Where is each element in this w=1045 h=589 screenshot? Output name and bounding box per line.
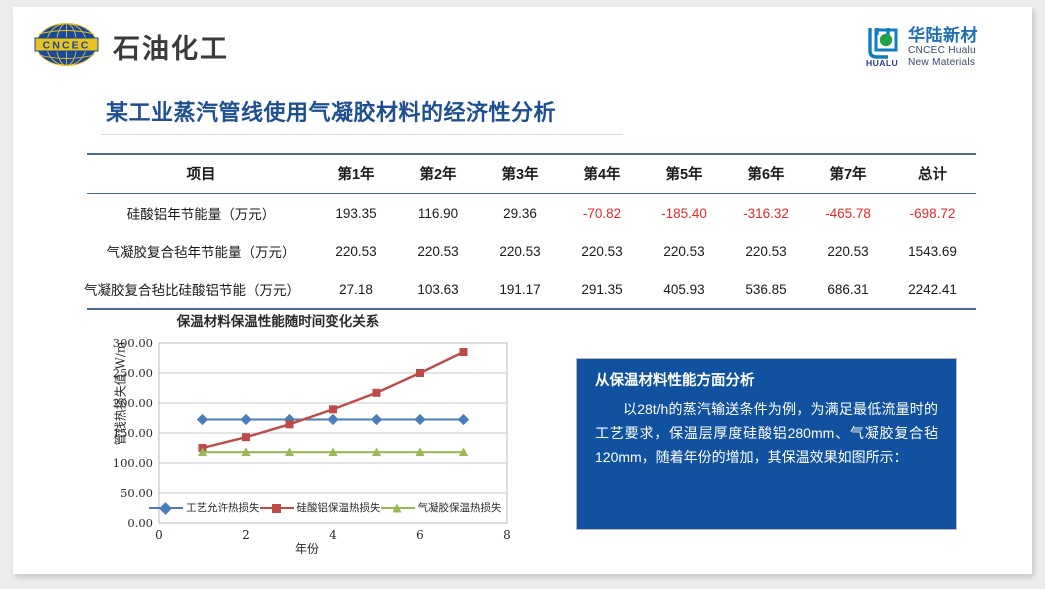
table-row: 气凝胶复合毡年节能量（万元） 220.53 220.53 220.53 220.… [87, 232, 976, 270]
table-header-cell: 第7年 [807, 154, 889, 194]
chart-x-axis-label: 年份 [97, 540, 517, 557]
table-header-cell: 第2年 [397, 154, 479, 194]
table-cell: 116.90 [397, 194, 479, 233]
title-divider [101, 134, 623, 135]
insulation-performance-chart: 保温材料保温性能随时间变化关系 管线热损失值 W/m 300.00 [73, 307, 543, 562]
cncec-wordmark: 石油化工 [113, 27, 229, 66]
svg-text:HUALU: HUALU [866, 58, 898, 68]
table-cell: -698.72 [889, 194, 976, 233]
table-header-row: 项目 第1年 第2年 第3年 第4年 第5年 第6年 第7年 总计 [87, 154, 976, 194]
table-row-label: 气凝胶复合毡比硅酸铝节能（万元） [87, 270, 315, 309]
table-cell: 103.63 [397, 270, 479, 309]
table-cell: -316.32 [725, 194, 807, 233]
hualu-logo-icon: HUALU 华陆新材 CNCEC Hualu New Materials [860, 21, 1010, 69]
slide-canvas: CNCEC 石油化工 HUALU 华陆新材 CNCEC Hualu New Ma… [13, 7, 1032, 574]
svg-text:New Materials: New Materials [908, 57, 975, 68]
table-row: 硅酸铝年节能量（万元） 193.35 116.90 29.36 -70.82 -… [87, 194, 976, 233]
table-cell: 220.53 [561, 232, 643, 270]
table-cell: 220.53 [479, 232, 561, 270]
table-cell: 220.53 [725, 232, 807, 270]
table-cell: -465.78 [807, 194, 889, 233]
economic-analysis-table: 项目 第1年 第2年 第3年 第4年 第5年 第6年 第7年 总计 硅酸铝年节能… [87, 153, 976, 310]
table-cell: 220.53 [315, 232, 397, 270]
table-cell: 191.17 [479, 270, 561, 309]
svg-text:0: 0 [155, 528, 163, 540]
table-header-cell: 总计 [889, 154, 976, 194]
table-cell: 536.85 [725, 270, 807, 309]
callout-body: 以28t/h的蒸汽输送条件为例，为满足最低流量时的工艺要求，保温层厚度硅酸铝28… [595, 397, 938, 469]
table-header-cell: 第3年 [479, 154, 561, 194]
svg-text:100.00: 100.00 [113, 456, 153, 470]
svg-text:0.00: 0.00 [127, 516, 153, 530]
table-header-cell: 第6年 [725, 154, 807, 194]
table-cell: 220.53 [397, 232, 479, 270]
table-row-label-text: 气凝胶复合毡比硅酸铝节能（万元） [84, 279, 300, 299]
table-cell: 29.36 [479, 194, 561, 233]
page-title: 某工业蒸汽管线使用气凝胶材料的经济性分析 [106, 95, 556, 127]
svg-text:8: 8 [503, 528, 511, 540]
table-cell: 220.53 [643, 232, 725, 270]
callout-heading: 从保温材料性能方面分析 [595, 374, 938, 390]
table-cell: -185.40 [643, 194, 725, 233]
table-cell: -70.82 [561, 194, 643, 233]
table-cell: 1543.69 [889, 232, 976, 270]
svg-text:50.00: 50.00 [120, 486, 153, 500]
table-cell: 2242.41 [889, 270, 976, 309]
table-row-label: 气凝胶复合毡年节能量（万元） [87, 232, 315, 270]
svg-text:300.00: 300.00 [113, 336, 153, 350]
svg-text:6: 6 [416, 528, 424, 540]
svg-text:CNCEC Hualu: CNCEC Hualu [908, 45, 976, 56]
slide-page: CNCEC 石油化工 HUALU 华陆新材 CNCEC Hualu New Ma… [0, 0, 1045, 589]
svg-text:2: 2 [242, 528, 250, 540]
table-row-label: 硅酸铝年节能量（万元） [87, 194, 315, 233]
svg-text:4: 4 [329, 528, 337, 540]
table-cell: 220.53 [807, 232, 889, 270]
table-header-cell: 第4年 [561, 154, 643, 194]
table-cell: 27.18 [315, 270, 397, 309]
svg-text:华陆新材: 华陆新材 [908, 25, 978, 46]
table-cell: 291.35 [561, 270, 643, 309]
analysis-callout-box: 从保温材料性能方面分析 以28t/h的蒸汽输送条件为例，为满足最低流量时的工艺要… [576, 358, 957, 530]
table-header-cell: 第5年 [643, 154, 725, 194]
svg-text:150.00: 150.00 [113, 426, 153, 440]
svg-text:CNCEC: CNCEC [43, 39, 91, 51]
chart-title: 保温材料保温性能随时间变化关系 [73, 310, 483, 330]
table-cell: 405.93 [643, 270, 725, 309]
cncec-logo-icon: CNCEC [29, 22, 104, 67]
table-header-cell: 项目 [87, 154, 315, 194]
table-row: 气凝胶复合毡比硅酸铝节能（万元） 27.18 103.63 191.17 291… [87, 270, 976, 309]
table-header-cell: 第1年 [315, 154, 397, 194]
svg-text:250.00: 250.00 [113, 366, 153, 380]
chart-plot-area: 300.00 250.00 200.00 150.00 100.00 50.00… [87, 335, 527, 540]
svg-text:200.00: 200.00 [113, 396, 153, 410]
table-cell: 193.35 [315, 194, 397, 233]
table-cell: 686.31 [807, 270, 889, 309]
